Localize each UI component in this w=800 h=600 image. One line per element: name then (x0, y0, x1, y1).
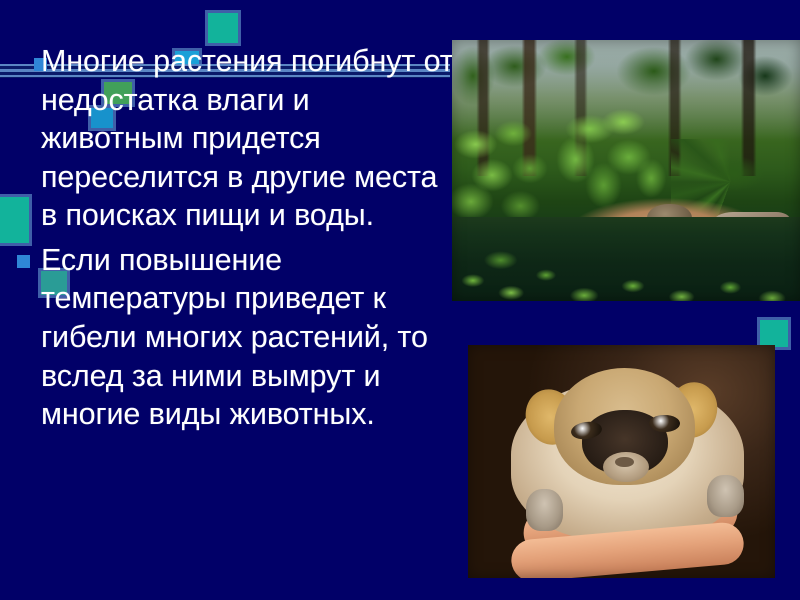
bullet-item: Если повышение температуры приведет к ги… (8, 241, 460, 434)
lemur-nose (615, 457, 633, 467)
mouse-lemur-photo (468, 345, 775, 578)
lemur-hand-left (526, 489, 563, 531)
slide-body-text: Многие растения погибнут от недостатка в… (8, 42, 460, 440)
deco-square-teal-top (205, 10, 241, 46)
square-bullet-icon (17, 255, 30, 268)
jungle-pond-photo (452, 40, 800, 301)
jungle-water-plants (452, 233, 800, 301)
bullet-item: Многие растения погибнут от недостатка в… (8, 42, 460, 235)
bullet-text: Если повышение температуры приведет к ги… (41, 241, 460, 434)
bullet-text: Многие растения погибнут от недостатка в… (41, 42, 460, 235)
lemur-hand-right (707, 475, 744, 517)
presentation-slide: Многие растения погибнут от недостатка в… (0, 0, 800, 600)
